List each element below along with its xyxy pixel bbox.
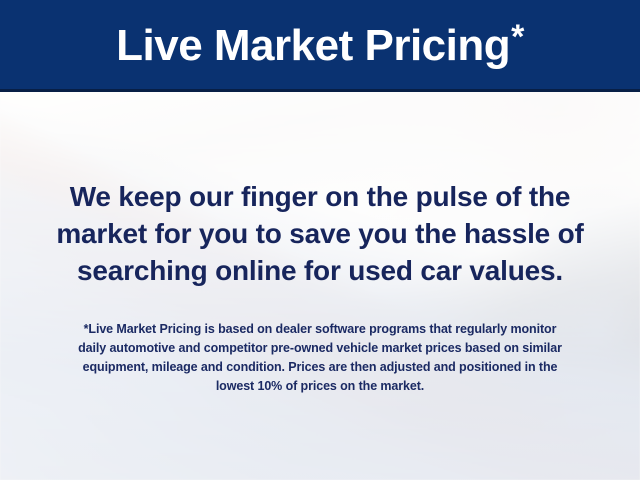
disclaimer-line-2: daily automotive and competitor pre-owne… (24, 339, 616, 358)
headline-line-1: We keep our finger on the pulse of the (20, 178, 620, 215)
disclaimer-line-1: *Live Market Pricing is based on dealer … (24, 320, 616, 339)
page-title-text: Live Market Pricing (116, 24, 510, 68)
page-title: Live Market Pricing* (0, 0, 640, 92)
disclaimer-line-3: equipment, mileage and condition. Prices… (24, 358, 616, 377)
headline-line-2: market for you to save you the hassle of (20, 215, 620, 252)
headline-line-3: searching online for used car values. (20, 252, 620, 289)
headline: We keep our finger on the pulse of the m… (20, 178, 620, 289)
disclaimer-line-4: lowest 10% of prices on the market. (24, 377, 616, 396)
live-market-pricing-banner: Live Market Pricing* We keep our finger … (0, 0, 640, 480)
disclaimer: *Live Market Pricing is based on dealer … (24, 320, 616, 396)
